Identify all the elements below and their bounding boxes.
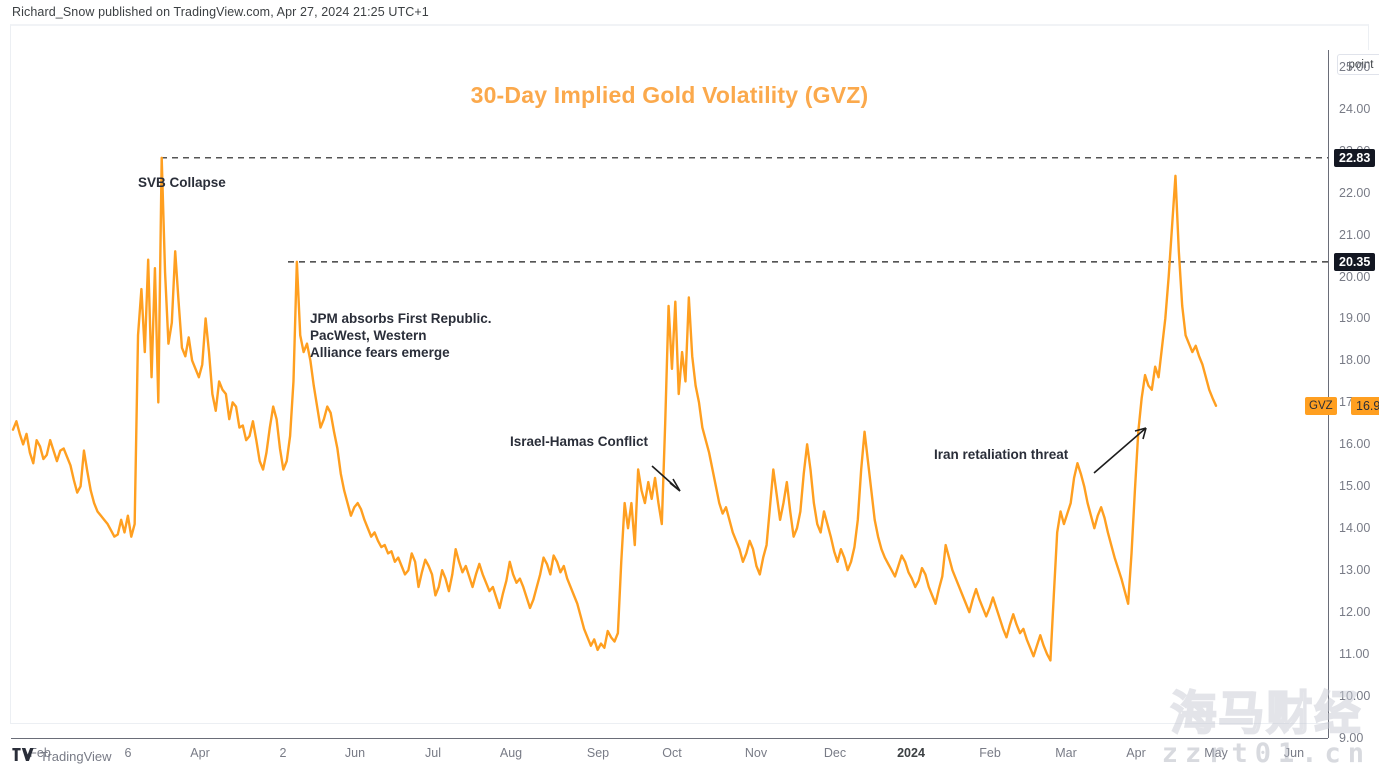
gvz-symbol-badge: GVZ [1305,397,1337,415]
high-marker-22-83: 22.83 [1334,149,1375,167]
chart-plot-area[interactable]: SVB Collapse JPM absorbs First Republic.… [11,50,1328,738]
time-axis[interactable]: Feb6Apr2JunJulAugSepOctNovDec2024FebMarA… [11,738,1328,766]
high-marker-20-35: 20.35 [1334,253,1375,271]
annotation-iran-retaliation: Iran retaliation threat [934,446,1068,463]
time-tick-apr: Apr [1126,746,1145,760]
price-tick-22-00: 22.00 [1339,186,1370,200]
time-tick-mar: Mar [1055,746,1077,760]
price-tick-20-00: 20.00 [1339,270,1370,284]
price-tick-13-00: 13.00 [1339,563,1370,577]
price-tick-14-00: 14.00 [1339,521,1370,535]
time-tick-aug: Aug [500,746,522,760]
publisher-byline: Richard_Snow published on TradingView.co… [12,5,429,19]
time-tick-2: 2 [280,746,287,760]
gvz-series-line [13,158,1216,661]
time-tick-jul: Jul [425,746,441,760]
price-tick-10-00: 10.00 [1339,689,1370,703]
price-tick-16-00: 16.00 [1339,437,1370,451]
time-tick-2024: 2024 [897,746,925,760]
gvz-line-chart [11,50,1328,738]
price-tick-19-00: 19.00 [1339,311,1370,325]
tradingview-brand-label: TradingView [40,749,112,764]
tradingview-footer[interactable]: TradingView [12,748,112,764]
annotation-arrows [652,428,1146,491]
price-tick-21-00: 21.00 [1339,228,1370,242]
price-tick-24-00: 24.00 [1339,102,1370,116]
time-tick-oct: Oct [662,746,681,760]
gvz-last-value-badge: 16.92 [1351,397,1379,415]
price-tick-25-00: 25.00 [1339,60,1370,74]
time-tick-sep: Sep [587,746,609,760]
price-tick-12-00: 12.00 [1339,605,1370,619]
annotation-jpm-first-republic: JPM absorbs First Republic. PacWest, Wes… [310,310,492,361]
price-tick-18-00: 18.00 [1339,353,1370,367]
price-tick-9-00: 9.00 [1339,731,1363,745]
time-tick-may: May [1204,746,1228,760]
price-axis[interactable]: point 25.0024.0023.0022.0021.0020.0019.0… [1328,50,1379,738]
price-tick-11-00: 11.00 [1339,647,1369,661]
time-tick-6: 6 [125,746,132,760]
annotation-israel-hamas: Israel-Hamas Conflict [510,433,648,450]
tradingview-logo-icon [12,748,34,764]
price-tick-15-00: 15.00 [1339,479,1370,493]
chart-frame: 30-Day Implied Gold Volatility (GVZ) SVB… [10,24,1369,724]
time-tick-feb: Feb [979,746,1001,760]
time-tick-jun: Jun [1284,746,1304,760]
reference-lines [161,158,1328,262]
time-tick-nov: Nov [745,746,767,760]
time-tick-jun: Jun [345,746,365,760]
arrow-israel-hamas-head [670,479,680,491]
time-tick-dec: Dec [824,746,846,760]
annotation-svb-collapse: SVB Collapse [138,174,226,191]
time-tick-apr: Apr [190,746,209,760]
